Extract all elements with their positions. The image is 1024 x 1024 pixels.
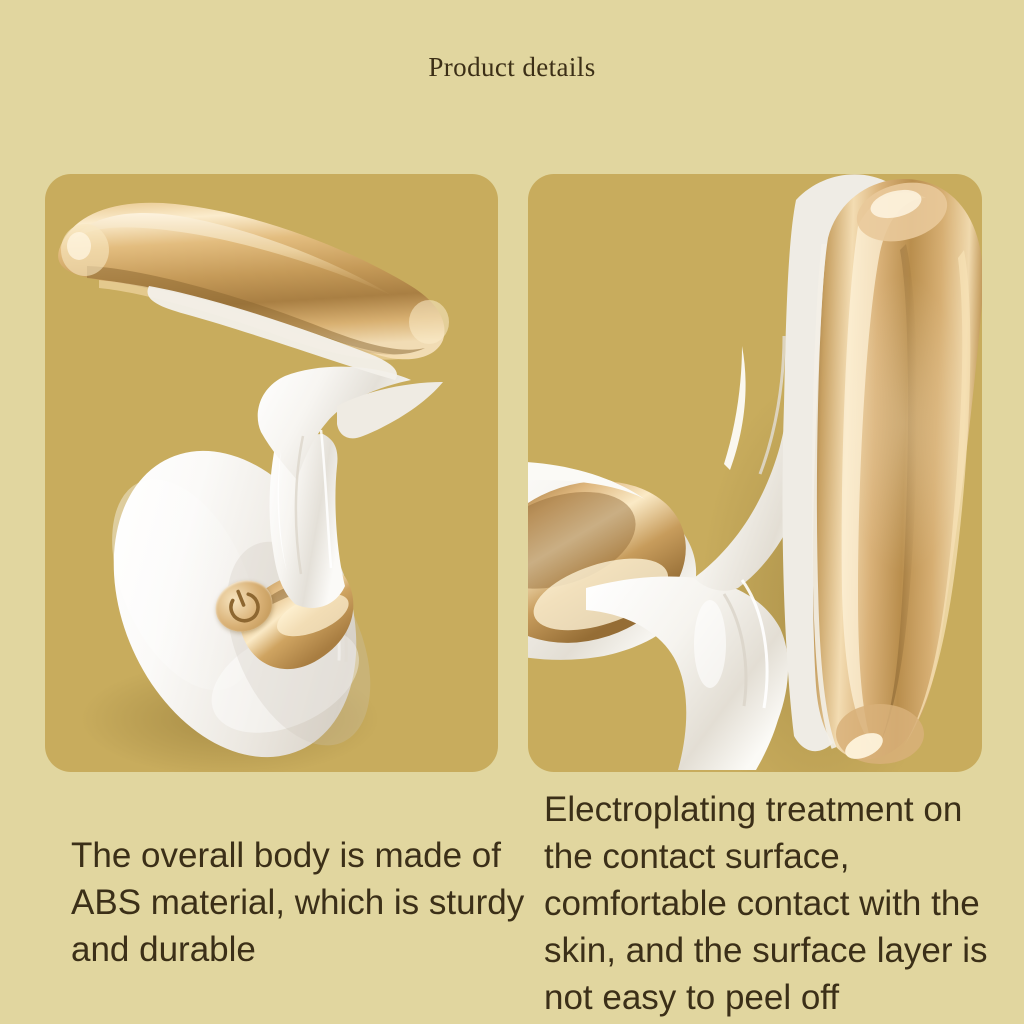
product-image-panel-left[interactable] [45, 174, 498, 772]
page-title: Product details [0, 52, 1024, 83]
caption-left: The overall body is made of ABS material… [71, 832, 531, 973]
caption-right: Electroplating treatment on the contact … [544, 786, 1014, 1021]
product-image-panel-right[interactable] [528, 174, 982, 772]
product-details-page: Product details [0, 0, 1024, 1024]
product-illustration-full-view [45, 174, 498, 772]
product-illustration-contact-surface [528, 174, 982, 772]
